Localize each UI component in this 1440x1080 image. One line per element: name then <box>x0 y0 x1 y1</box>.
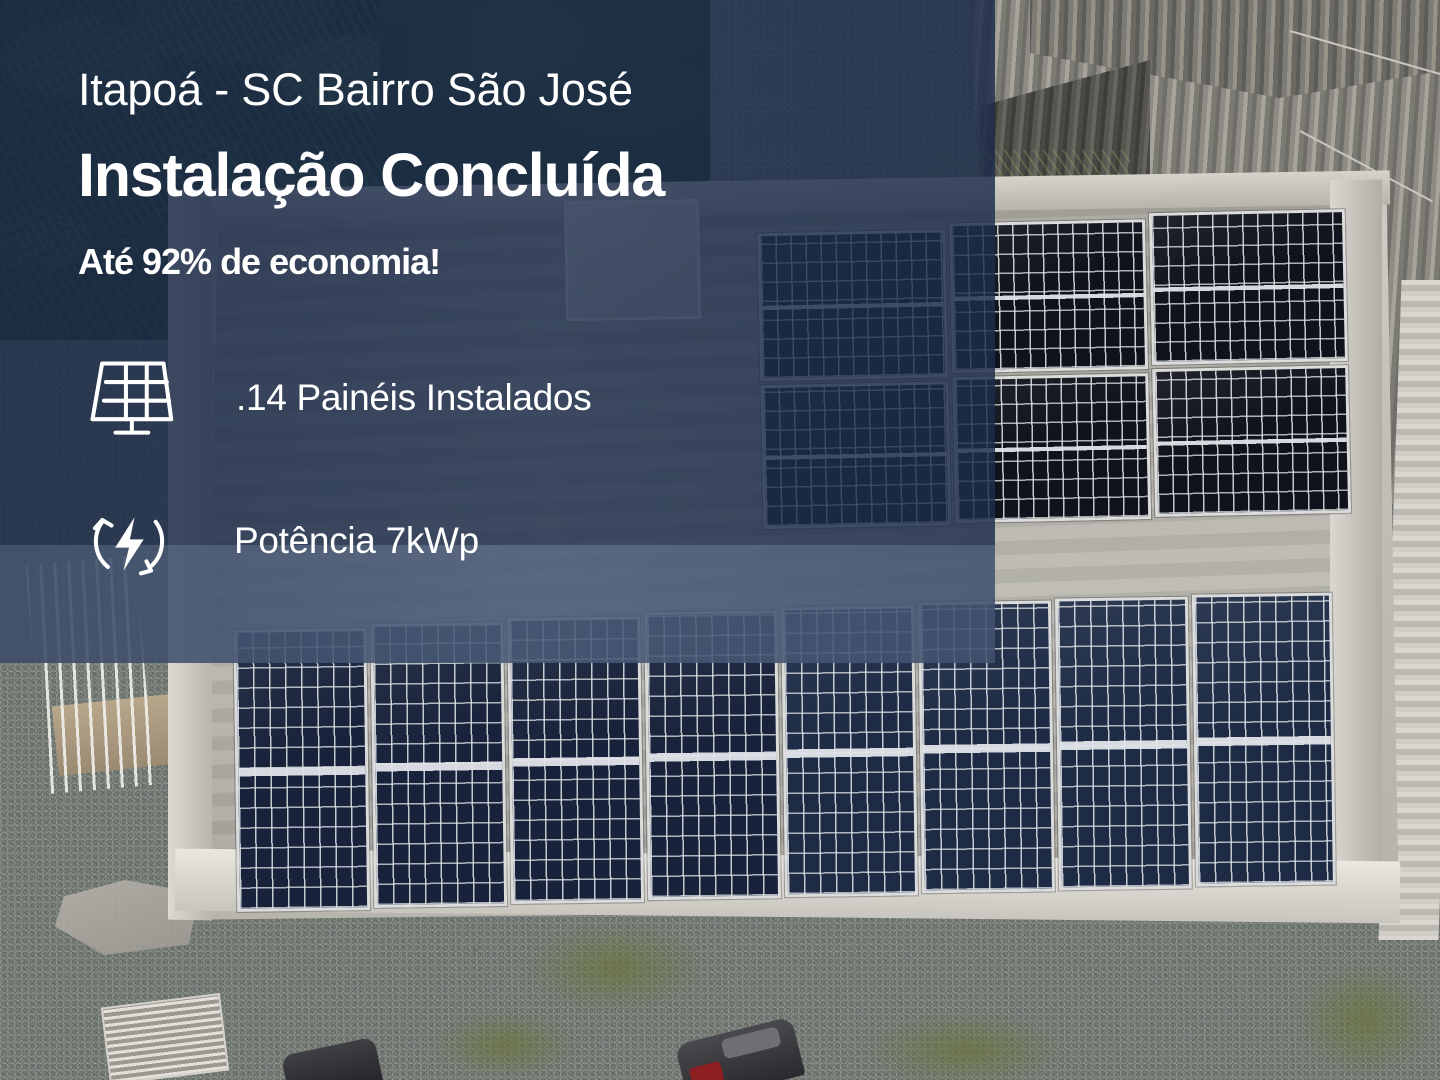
page-title: Instalação Concluída <box>78 140 664 210</box>
solar-panel <box>1055 597 1192 891</box>
savings-subtitle: Até 92% de economia! <box>78 241 440 283</box>
stat-power: Potência 7kWp <box>80 495 479 591</box>
vent-grill <box>101 993 230 1080</box>
moss-patch <box>1290 960 1440 1080</box>
location-label: Itapoá - SC Bairro São José <box>78 64 633 116</box>
solar-panel <box>1192 593 1336 887</box>
power-cycle-icon <box>80 495 178 591</box>
moss-patch <box>860 1010 1070 1080</box>
solar-panel <box>370 622 507 908</box>
stat-power-label: Potência 7kWp <box>234 520 479 566</box>
banner-stage: Itapoá - SC Bairro São José Instalação C… <box>0 0 1440 1080</box>
stat-panels: .14 Painéis Instalados <box>80 352 591 448</box>
solar-panel-icon <box>80 352 178 448</box>
solar-panel <box>1152 365 1351 517</box>
solar-panel <box>233 628 370 912</box>
solar-panel <box>1149 209 1348 365</box>
moss-patch <box>520 920 710 1015</box>
moss-patch <box>430 1010 580 1080</box>
banner-content: Itapoá - SC Bairro São José Instalação C… <box>0 0 995 663</box>
stat-panels-label: .14 Painéis Instalados <box>236 377 591 423</box>
